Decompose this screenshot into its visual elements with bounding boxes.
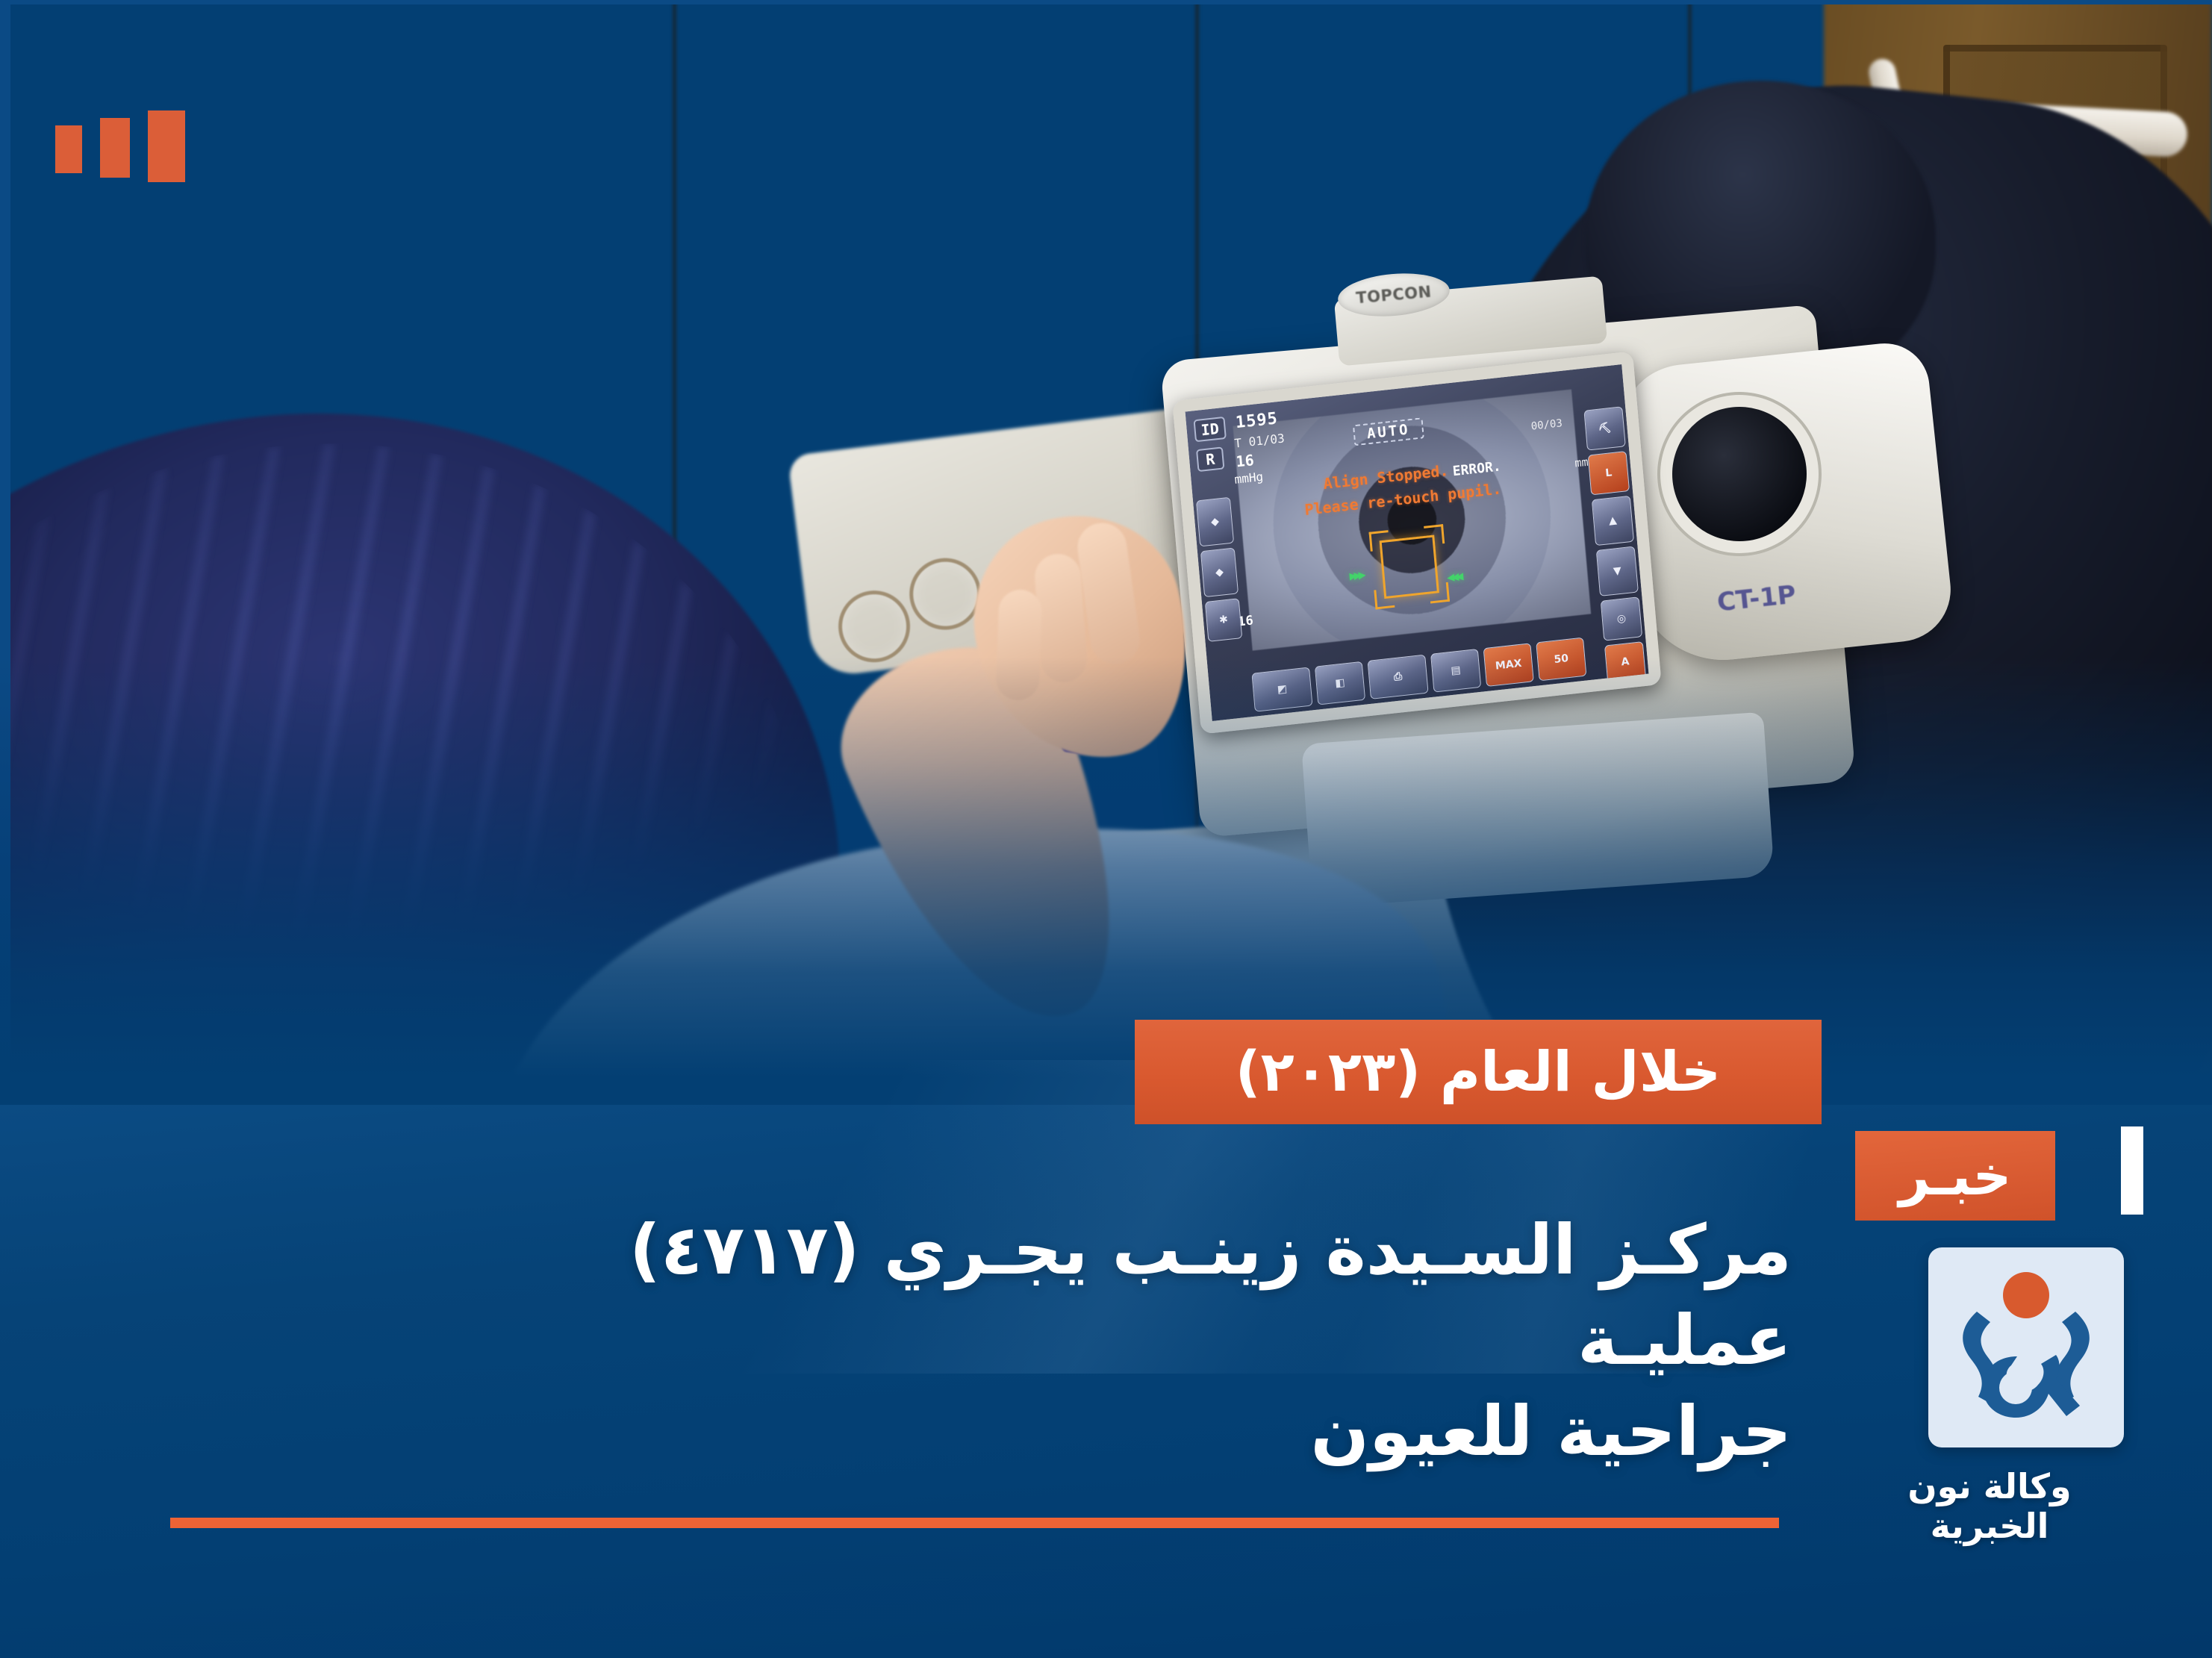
white-vertical-tick-icon xyxy=(2121,1126,2143,1215)
orange-divider-rule xyxy=(170,1518,1779,1528)
lcd-id-button[interactable]: ID xyxy=(1194,417,1227,442)
top-edge-strip xyxy=(0,0,2212,4)
year-banner: خلال العام (٢٠٢٣) xyxy=(1135,1020,1822,1124)
lcd-button-settings[interactable]: ✱ xyxy=(1205,598,1242,642)
lcd-button-max[interactable]: MAX xyxy=(1483,643,1534,687)
lcd-button-preset-50[interactable]: 50 xyxy=(1536,638,1586,682)
page-title: مركـز السـيدة زينـب يجـري (٤٧١٧) عمليـة … xyxy=(426,1205,1792,1477)
device-brand-label: TOPCON xyxy=(1356,284,1433,306)
lcd-pressure-value: 16 xyxy=(1236,451,1255,471)
news-badge-wrapper: خبـر xyxy=(1855,1131,2124,1227)
lcd-button-down-arrow-icon[interactable]: ▼ xyxy=(1596,546,1639,596)
lcd-button-up-arrow-icon[interactable]: ▲ xyxy=(1592,496,1634,546)
device-base xyxy=(1301,712,1775,909)
bar-3 xyxy=(55,125,82,173)
device-lcd-screen[interactable]: ID R 1595 T 01/03 16 mmHg AUTO 00/03 mmH… xyxy=(1172,351,1662,734)
lcd-button-left-eye[interactable]: L xyxy=(1588,451,1630,495)
lcd-button-contrast-up[interactable]: ◆ xyxy=(1196,497,1234,547)
device-model-label: CT-1P xyxy=(1716,582,1798,616)
lcd-button-target-icon[interactable]: ◎ xyxy=(1601,596,1642,641)
lcd-button-printer-icon[interactable]: ⎙ xyxy=(1368,655,1429,699)
lcd-left-button-column[interactable]: ◆ ◆ ✱ xyxy=(1196,497,1242,642)
agency-logo-card xyxy=(1928,1247,2124,1447)
lcd-button-list-icon[interactable]: ▤ xyxy=(1430,649,1481,693)
status-badge: خبـر xyxy=(1855,1131,2055,1221)
left-edge-strip xyxy=(0,0,10,1120)
year-banner-label: خلال العام (٢٠٢٣) xyxy=(1236,1044,1722,1100)
lcd-right-button-column[interactable]: ⛏ L ▲ ▼ ◎ A xyxy=(1583,406,1646,682)
headline-line-2: جراحية للعيون xyxy=(426,1386,1792,1477)
lcd-eye-button[interactable]: R xyxy=(1196,446,1224,472)
green-direction-arrows-icon: ◂◂◂ xyxy=(1446,568,1461,585)
agency-name: وكالة نون الخبرية xyxy=(1855,1467,2124,1546)
alignment-reticle-icon xyxy=(1380,535,1439,599)
lcd-button-auto-icon[interactable]: A xyxy=(1604,641,1646,682)
bar-2 xyxy=(100,118,130,178)
news-card: TOPCON CT-1P ID R 1595 T 01/03 16 mmHg A… xyxy=(0,0,2212,1658)
branding-block: خبـر وكالة نون الخبرية xyxy=(1855,1131,2124,1546)
lcd-button-eraser-icon[interactable]: ◩ xyxy=(1251,667,1312,711)
lcd-button-tool-icon[interactable]: ⛏ xyxy=(1583,406,1625,450)
three-vertical-bars-icon xyxy=(55,110,185,182)
lcd-button-contrast-down[interactable]: ◆ xyxy=(1200,547,1239,597)
topcon-tonometer: TOPCON CT-1P ID R 1595 T 01/03 16 mmHg A… xyxy=(1150,265,1941,855)
bar-1 xyxy=(148,110,185,182)
ring-finger xyxy=(995,589,1042,701)
clinic-photo: TOPCON CT-1P ID R 1595 T 01/03 16 mmHg A… xyxy=(0,0,2212,1120)
green-direction-arrows-icon: ▸▸▸ xyxy=(1349,567,1364,583)
status-badge-label: خبـر xyxy=(1899,1149,2012,1203)
noon-agency-logo-icon xyxy=(1947,1265,2105,1430)
lcd-button-flip-icon[interactable]: ◧ xyxy=(1315,661,1365,705)
headline-line-1: مركـز السـيدة زينـب يجـري (٤٧١٧) عمليـة xyxy=(629,1210,1792,1380)
